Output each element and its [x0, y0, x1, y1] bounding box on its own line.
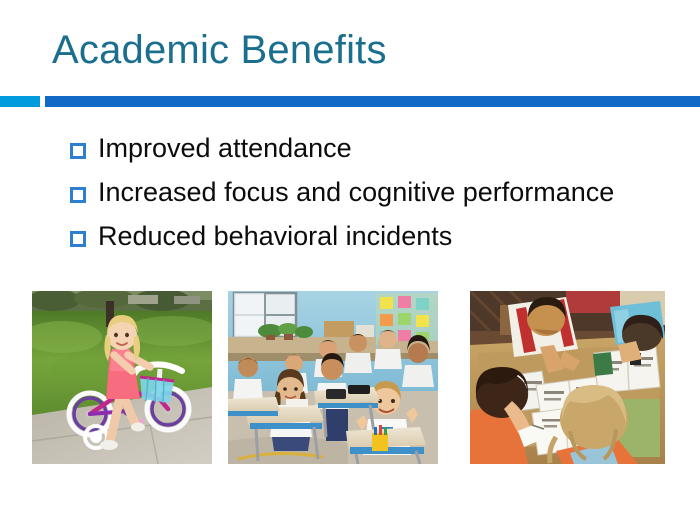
list-item: Improved attendance: [68, 128, 682, 172]
photo-students-studying: [470, 291, 665, 464]
hollow-square-bullet-icon: [68, 216, 98, 260]
list-item: Increased focus and cognitive performanc…: [68, 172, 682, 216]
slide: Academic Benefits Improved attendance In…: [0, 0, 700, 525]
bullet-list: Improved attendance Increased focus and …: [68, 128, 682, 260]
list-item-label: Improved attendance: [98, 128, 352, 168]
photo-classroom-students: [228, 291, 438, 464]
list-item: Reduced behavioral incidents: [68, 216, 682, 260]
hollow-square-bullet-icon: [68, 128, 98, 172]
divider-main-bar: [45, 96, 700, 107]
title-divider: [0, 96, 700, 107]
photo-girl-on-bicycle: [32, 291, 212, 464]
page-title: Academic Benefits: [52, 28, 387, 72]
list-item-label: Reduced behavioral incidents: [98, 216, 452, 256]
list-item-label: Increased focus and cognitive performanc…: [98, 172, 614, 212]
photo-classroom-students-graphic: [228, 291, 438, 464]
hollow-square-bullet-icon: [68, 172, 98, 216]
divider-accent-bar: [0, 96, 40, 107]
photo-students-studying-graphic: [470, 291, 665, 464]
photo-girl-on-bicycle-graphic: [32, 291, 212, 464]
